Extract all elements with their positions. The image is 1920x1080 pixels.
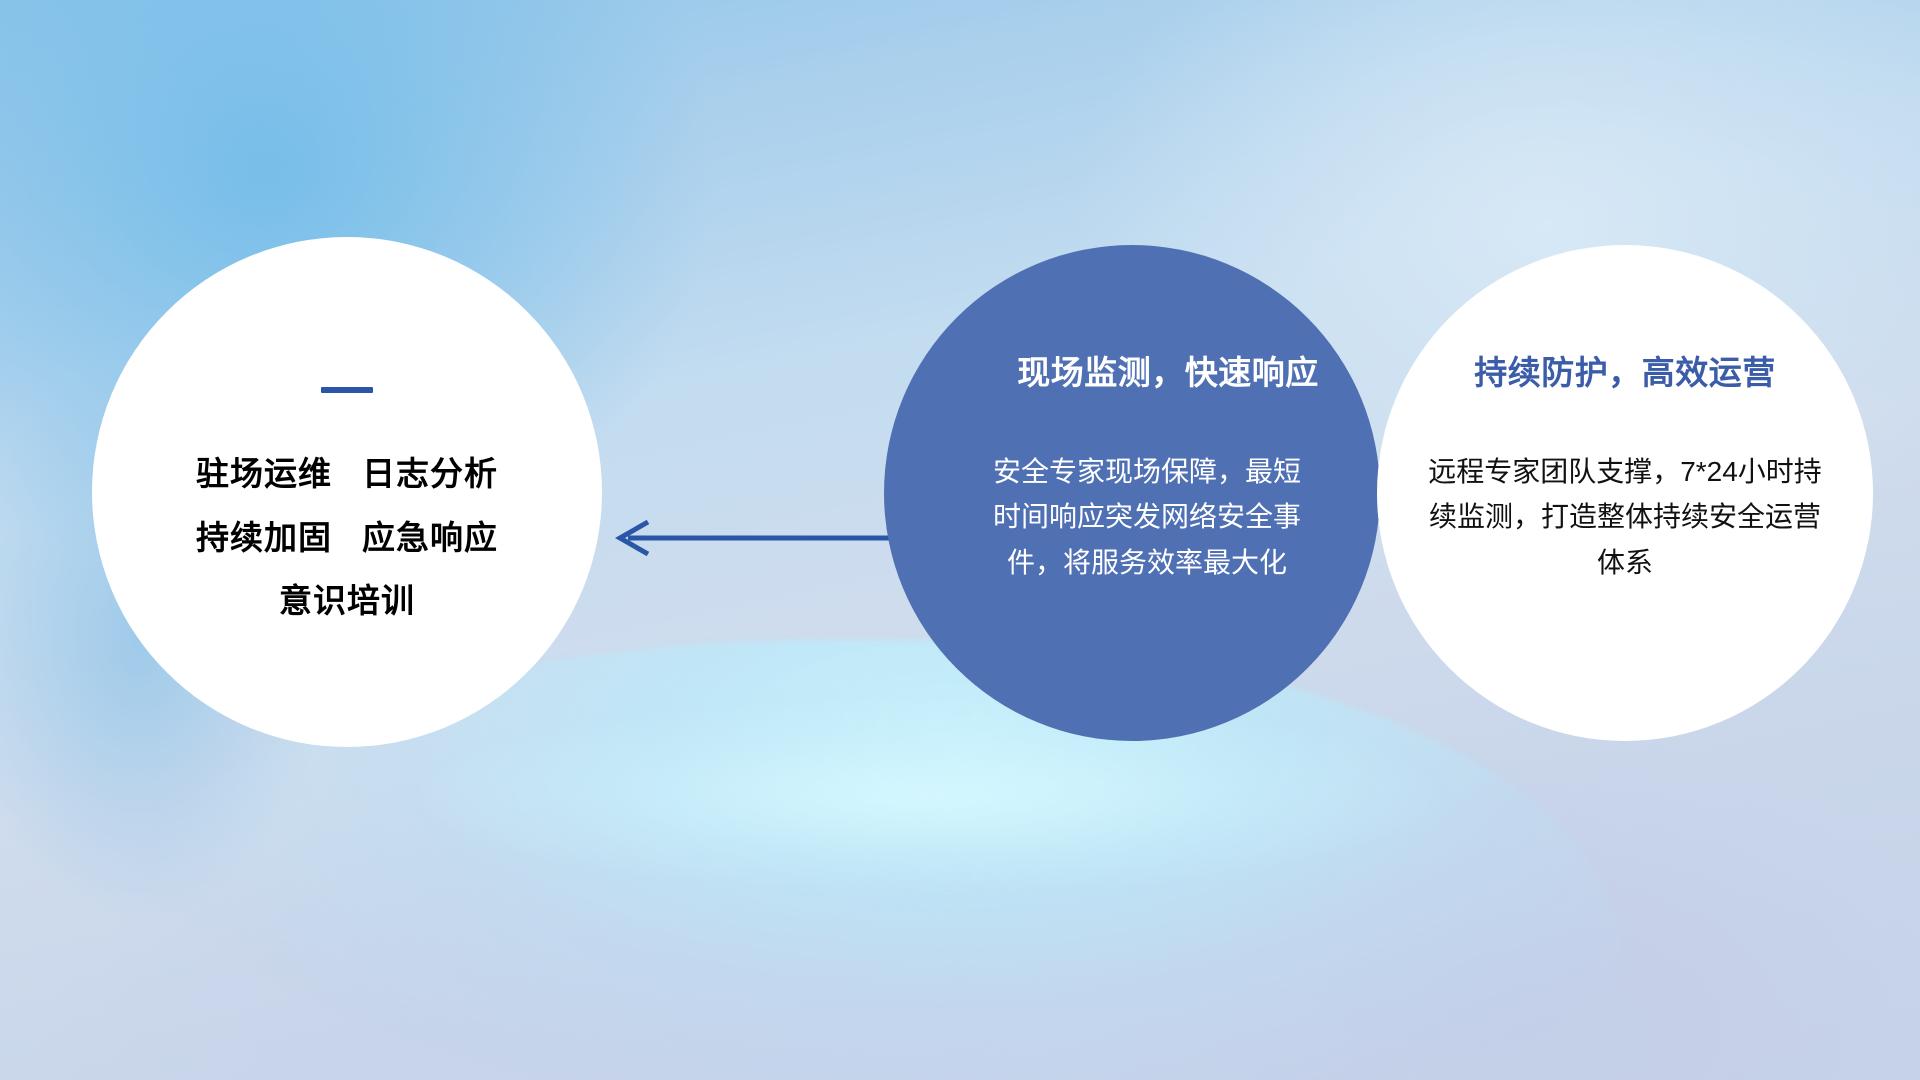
remote-circle-title: 持续防护，高效运营 [1474, 346, 1776, 394]
capability-row-1: 驻场运维日志分析 [196, 442, 498, 506]
service-circle-remote: 持续防护，高效运营 远程专家团队支撑，7*24小时持续监测，打造整体持续安全运营… [1377, 245, 1873, 741]
capability-row-2: 持续加固应急响应 [196, 506, 498, 570]
capability-item-continuous-hardening: 持续加固 [196, 519, 332, 556]
capability-list: 驻场运维日志分析 持续加固应急响应 意识培训 [196, 442, 498, 633]
capability-item-onsite-ops: 驻场运维 [196, 455, 332, 492]
remote-circle-body: 远程专家团队支撑，7*24小时持续监测，打造整体持续安全运营体系 [1416, 449, 1834, 585]
capability-item-emergency-response: 应急响应 [362, 519, 498, 556]
capability-item-awareness-training: 意识培训 [279, 582, 415, 619]
service-circle-onsite: 现场监测，快速响应 安全专家现场保障，最短时间响应突发网络安全事件，将服务效率最… [884, 245, 1380, 741]
capability-row-3: 意识培训 [196, 569, 498, 633]
dash-divider-icon [321, 387, 373, 393]
onsite-circle-title: 现场监测，快速响应 [1017, 346, 1319, 394]
slide-canvas: 驻场运维日志分析 持续加固应急响应 意识培训 现场监测，快速响应 安全专家现场保… [0, 0, 1920, 1080]
capability-circle-left: 驻场运维日志分析 持续加固应急响应 意识培训 [92, 237, 602, 747]
capability-item-log-analysis: 日志分析 [362, 455, 498, 492]
background-cyan-streak [420, 700, 1440, 890]
onsite-circle-body: 安全专家现场保障，最短时间响应突发网络安全事件，将服务效率最大化 [982, 449, 1312, 585]
flow-arrow-left-icon [608, 520, 900, 556]
